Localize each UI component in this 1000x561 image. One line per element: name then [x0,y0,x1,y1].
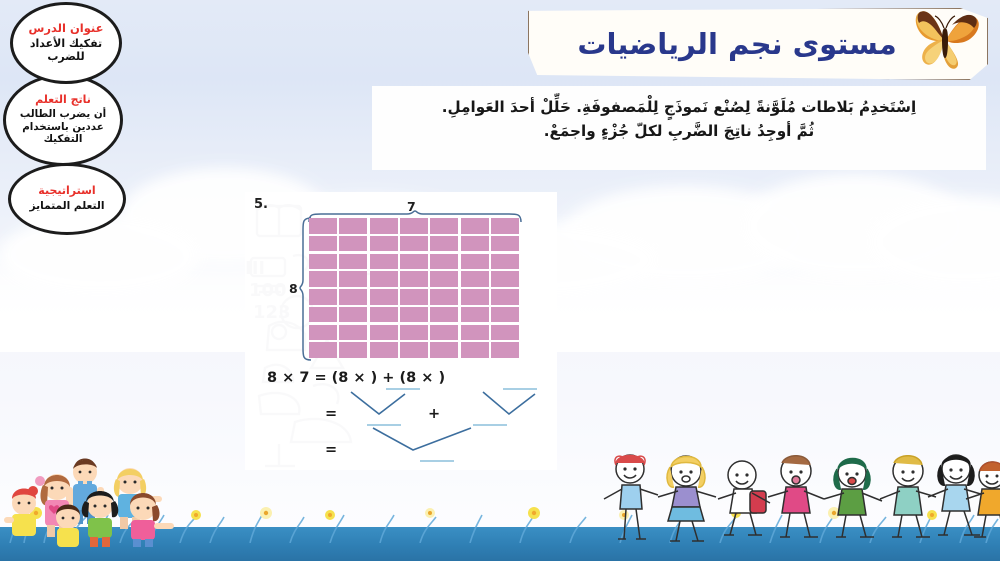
array-tile [430,342,458,358]
question-number: 5. [254,197,268,212]
array-tile [309,236,337,252]
array-tile [461,218,489,234]
instruction-line-1: اِسْتَخدِمُ بَلاطات مُلَوَّنةً لِصُنْع ن… [388,95,970,119]
array-tile [461,236,489,252]
array-tile [400,236,428,252]
array-tile [491,236,519,252]
array-tile [370,236,398,252]
callout-lesson-title: عنوان الدرس تفكيك الأعداد للضرب [10,2,122,84]
callout-body: تفكيك الأعداد للضرب [13,37,119,64]
array-tile [309,342,337,358]
array-tile [430,236,458,252]
array-tile [461,289,489,305]
array-tile [400,218,428,234]
array-tile [461,254,489,270]
array-tile [309,307,337,323]
array-tile [370,325,398,341]
array-tile [339,289,367,305]
callout-heading: استراتيجية [38,185,95,197]
equation-block: 8 × 7 = (8 × ) + (8 × ) = + = [245,370,557,466]
title-banner: مستوى نجم الرياضيات [528,8,988,80]
array-tile [461,342,489,358]
array-tile [400,254,428,270]
array-tile [491,307,519,323]
equation-connector-lines [245,370,557,466]
array-tile [400,289,428,305]
array-tile [430,218,458,234]
callout-learning-outcome: ناتج التعلم أن يضرب الطالب عددين باستخدا… [3,74,123,166]
array-tile [339,325,367,341]
svg-text:III: III [245,258,265,279]
svg-text:100: 100 [249,280,287,301]
array-tile [400,307,428,323]
instruction-line-2: ثُمَّ أوجِدُ ناتِجَ الضَّربِ لكلّ جُزْءٍ… [388,119,970,143]
callout-body: التعلم المتمايز [30,200,105,213]
children-holding-hands-illustration [600,447,1000,545]
slide-canvas: عنوان الدرس تفكيك الأعداد للضرب ناتج الت… [0,0,1000,561]
callout-body: أن يضرب الطالب عددين باستخدام التفكيك [6,108,120,146]
array-tile [339,342,367,358]
array-tile [370,289,398,305]
array-tile [430,325,458,341]
instruction-panel: اِسْتَخدِمُ بَلاطات مُلَوَّنةً لِصُنْع ن… [372,86,986,170]
array-tile [370,307,398,323]
worksheet-card: III 100 123 5. 7 8 8 × 7 = (8 × ) + (8 ×… [245,192,557,470]
array-tile [370,271,398,287]
array-grid [309,218,519,358]
array-tile [370,254,398,270]
array-tile [370,342,398,358]
array-tile [400,325,428,341]
array-tile [309,271,337,287]
array-tile [309,325,337,341]
array-tile [491,254,519,270]
array-tile [400,271,428,287]
array-tile [339,236,367,252]
array-tile [430,254,458,270]
columns-label: 7 [407,199,416,214]
array-tile [339,307,367,323]
array-tile [491,218,519,234]
array-tile [491,325,519,341]
array-tile [430,271,458,287]
array-tile [339,254,367,270]
array-tile [309,289,337,305]
array-tile [430,289,458,305]
callout-heading: ناتج التعلم [35,94,91,106]
array-tile [491,271,519,287]
array-tile [461,307,489,323]
page-title: مستوى نجم الرياضيات [528,8,946,80]
array-tile [461,325,489,341]
array-tile [309,218,337,234]
callout-strategy: استراتيجية التعلم المتمايز [8,163,126,235]
butterfly-icon [908,6,984,74]
array-tile [370,218,398,234]
array-tile [400,342,428,358]
svg-text:123: 123 [253,302,291,323]
rows-label: 8 [289,281,298,296]
array-tile [461,271,489,287]
callout-heading: عنوان الدرس [29,22,104,35]
children-group-illustration [0,439,200,547]
array-tile [339,218,367,234]
array-tile [309,254,337,270]
array-tile [339,271,367,287]
array-tile [430,307,458,323]
array-tile [491,289,519,305]
array-tile [491,342,519,358]
